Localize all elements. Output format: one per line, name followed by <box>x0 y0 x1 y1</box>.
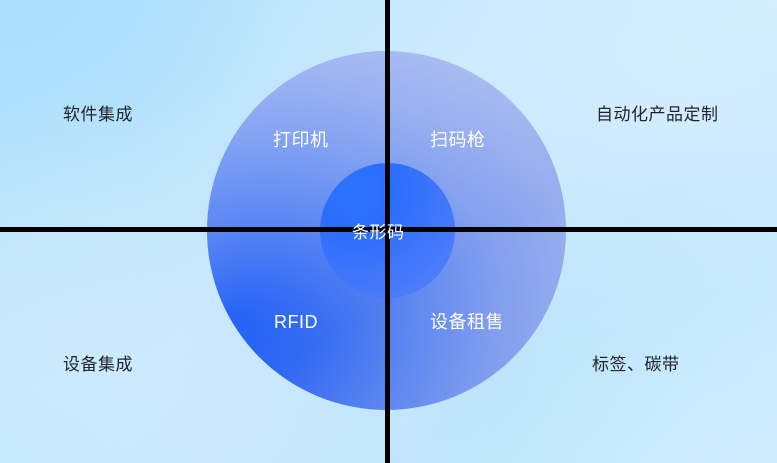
outer-label-bottom-right: 标签、碳带 <box>592 356 680 373</box>
outer-label-top-right: 自动化产品定制 <box>596 106 719 123</box>
outer-label-bottom-left: 设备集成 <box>63 356 133 373</box>
inner-label-bottom-right: 设备租售 <box>430 313 504 331</box>
center-label: 条形码 <box>352 224 405 241</box>
inner-label-top-left: 打印机 <box>273 131 329 149</box>
outer-label-top-left: 软件集成 <box>63 106 133 123</box>
inner-label-top-right: 扫码枪 <box>430 131 486 149</box>
inner-label-bottom-left: RFID <box>274 313 318 331</box>
diagram-canvas: 软件集成 自动化产品定制 设备集成 标签、碳带 打印机 扫码枪 RFID 设备租… <box>0 0 777 463</box>
